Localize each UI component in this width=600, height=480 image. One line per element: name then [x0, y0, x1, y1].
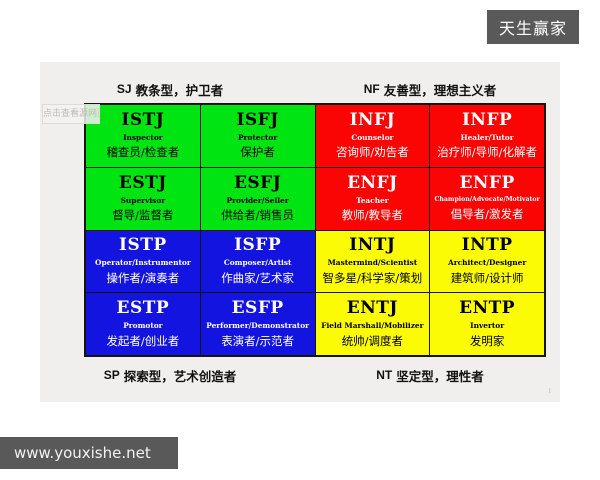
cell-entj[interactable]: ENTJ Field Marshall/Mobilizer 统帅/调度者 — [316, 293, 430, 355]
cell-estp-cn: 发起者/创业者 — [106, 334, 179, 348]
cell-estp-en: Promotor — [123, 321, 162, 331]
cell-enfj-cn: 教师/教导者 — [342, 208, 403, 222]
axis-label-sp: SP 探索型，艺术创造者 — [40, 360, 300, 390]
axis-label-nf: NF 友善型，理想主义者 — [300, 74, 560, 104]
cell-esfp-cn: 表演者/示范者 — [221, 334, 294, 348]
cell-entp-code: ENTP — [459, 300, 515, 318]
cell-istp-cn: 操作者/演奏者 — [106, 271, 179, 285]
cell-enfp-code: ENFP — [459, 175, 514, 193]
cell-infj-code: INFJ — [350, 112, 396, 130]
cell-esfj-en: Provider/Seller — [227, 196, 289, 206]
axis-label-nt-code: NT — [376, 368, 392, 382]
cell-esfp-en: Performer/Demonstrator — [206, 321, 309, 331]
cell-enfp-en: Champion/Advocate/Motivator — [434, 196, 539, 204]
winner-badge: 天生赢家 — [487, 10, 579, 44]
mbti-type-matrix: ISTJ Inspector 稽查员/检查者 ISFJ Protector 保护… — [84, 103, 546, 357]
axis-labels-top: SJ 教条型，护卫者 NF 友善型，理想主义者 — [40, 74, 560, 104]
site-watermark: www.youxishe.net — [0, 437, 178, 469]
cell-istj[interactable]: ISTJ Inspector 稽查员/检查者 — [86, 105, 200, 167]
cell-istj-en: Inspector — [123, 133, 163, 143]
axis-label-sp-text: 探索型，艺术创造者 — [124, 366, 237, 385]
cell-entj-cn: 统帅/调度者 — [342, 334, 403, 348]
cell-enfj-code: ENFJ — [347, 175, 398, 193]
cell-isfj-en: Protector — [238, 133, 277, 143]
cell-isfp-cn: 作曲家/艺术家 — [221, 271, 294, 285]
cell-intj-cn: 智多星/科学家/策划 — [323, 271, 423, 285]
cell-entp-cn: 发明家 — [470, 334, 505, 348]
cell-infj[interactable]: INFJ Counselor 咨询师/劝告者 — [316, 105, 430, 167]
cell-entp-en: Invertor — [470, 321, 504, 331]
axis-label-sj-code: SJ — [117, 82, 132, 96]
cell-isfj-code: ISFJ — [236, 112, 278, 130]
cell-isfj[interactable]: ISFJ Protector 保护者 — [201, 105, 315, 167]
cell-infp[interactable]: INFP Healer/Tutor 治疗师/导师/化解者 — [430, 105, 544, 167]
cell-esfj[interactable]: ESFJ Provider/Seller 供给者/销售员 — [201, 168, 315, 230]
axis-labels-bottom: SP 探索型，艺术创造者 NT 坚定型，理性者 — [40, 360, 560, 390]
cell-intp[interactable]: INTP Architect/Designer 建筑师/设计师 — [430, 231, 544, 293]
cell-estp[interactable]: ESTP Promotor 发起者/创业者 — [86, 293, 200, 355]
cell-isfp-en: Composer/Artist — [224, 258, 292, 268]
mbti-figure: 点击查看源网页 SJ 教条型，护卫者 NF 友善型，理想主义者 ISTJ Ins… — [40, 62, 560, 402]
cell-intp-code: INTP — [462, 237, 513, 255]
source-page-hint-watermark[interactable]: 点击查看源网页 — [42, 104, 100, 124]
cell-infp-en: Healer/Tutor — [461, 133, 514, 143]
cell-istp[interactable]: ISTP Operator/Instrumentor 操作者/演奏者 — [86, 231, 200, 293]
cell-enfj[interactable]: ENFJ Teacher 教师/教导者 — [316, 168, 430, 230]
cell-esfj-code: ESFJ — [234, 175, 281, 193]
cell-estj-cn: 督导/监督者 — [112, 208, 173, 222]
site-watermark-label: www.youxishe.net — [14, 444, 151, 462]
cell-intj[interactable]: INTJ Mastermind/Scientist 智多星/科学家/策划 — [316, 231, 430, 293]
cell-entp[interactable]: ENTP Invertor 发明家 — [430, 293, 544, 355]
cell-intp-cn: 建筑师/设计师 — [451, 271, 524, 285]
cell-estj-en: Supervisor — [121, 196, 166, 206]
cell-istj-cn: 稽查员/检查者 — [106, 145, 179, 159]
axis-label-sj-text: 教条型，护卫者 — [136, 80, 224, 99]
axis-label-sj: SJ 教条型，护卫者 — [40, 74, 300, 104]
cell-istj-code: ISTJ — [121, 112, 164, 130]
cell-infj-en: Counselor — [351, 133, 393, 143]
axis-label-nt: NT 坚定型，理性者 — [300, 360, 560, 390]
cell-entj-code: ENTJ — [347, 300, 398, 318]
cell-estp-code: ESTP — [117, 300, 170, 318]
cell-esfp[interactable]: ESFP Performer/Demonstrator 表演者/示范者 — [201, 293, 315, 355]
cell-istp-en: Operator/Instrumentor — [95, 258, 191, 268]
cell-estj[interactable]: ESTJ Supervisor 督导/监督者 — [86, 168, 200, 230]
winner-badge-label: 天生赢家 — [499, 15, 567, 39]
cell-entj-en: Field Marshall/Mobilizer — [321, 321, 423, 331]
cell-infj-cn: 咨询师/劝告者 — [336, 145, 409, 159]
cell-enfp-cn: 倡导者/激发者 — [451, 207, 524, 221]
cell-esfj-cn: 供给者/销售员 — [221, 208, 294, 222]
cell-enfp[interactable]: ENFP Champion/Advocate/Motivator 倡导者/激发者 — [430, 168, 544, 230]
cell-intj-en: Mastermind/Scientist — [328, 258, 418, 268]
axis-label-nt-text: 坚定型，理性者 — [396, 366, 484, 385]
axis-label-nf-text: 友善型，理想主义者 — [384, 80, 497, 99]
cell-intp-en: Architect/Designer — [448, 258, 526, 268]
page-corner-mark: 1 — [548, 387, 552, 395]
axis-label-sp-code: SP — [104, 368, 120, 382]
cell-estj-code: ESTJ — [119, 175, 167, 193]
cell-esfp-code: ESFP — [232, 300, 284, 318]
cell-intj-code: INTJ — [349, 237, 395, 255]
axis-label-nf-code: NF — [364, 82, 380, 96]
cell-enfj-en: Teacher — [356, 196, 389, 206]
cell-istp-code: ISTP — [119, 237, 167, 255]
cell-infp-cn: 治疗师/导师/化解者 — [437, 145, 537, 159]
cell-isfp[interactable]: ISFP Composer/Artist 作曲家/艺术家 — [201, 231, 315, 293]
cell-isfp-code: ISFP — [234, 237, 281, 255]
cell-isfj-cn: 保护者 — [240, 145, 275, 159]
cell-infp-code: INFP — [462, 112, 512, 130]
